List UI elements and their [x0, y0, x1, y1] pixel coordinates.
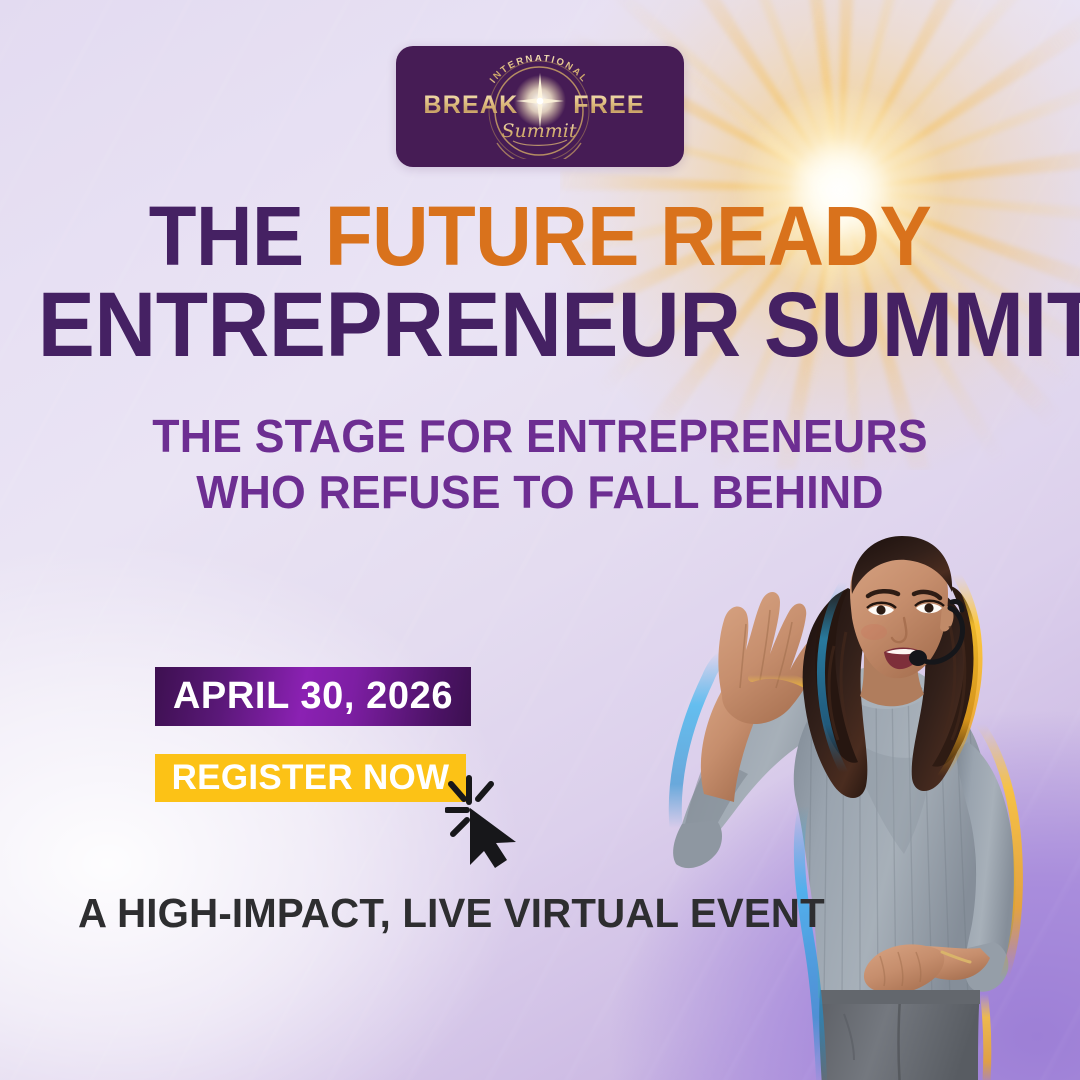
- headline-line-1: THE FUTURE READY: [38, 196, 1042, 277]
- headline-line-2: ENTREPRENEUR SUMMIT: [38, 281, 1042, 369]
- headline-future-ready: FUTURE READY: [325, 189, 931, 283]
- logo-word-break: BREAK: [424, 91, 519, 119]
- event-date-label: APRIL 30, 2026: [173, 675, 453, 718]
- logo-card: INTERNATIONAL BREAK FREE Summit: [396, 46, 684, 167]
- page-title: THE FUTURE READY ENTREPRENEUR SUMMIT: [38, 196, 1042, 369]
- break-free-summit-logo: INTERNATIONAL BREAK FREE Summit: [421, 55, 659, 159]
- subheadline-line-1: THE STAGE FOR ENTREPRENEURS: [16, 408, 1064, 464]
- logo-word-free: FREE: [573, 91, 644, 119]
- register-now-button[interactable]: REGISTER NOW: [155, 754, 466, 802]
- subheadline-line-2: WHO REFUSE TO FALL BEHIND: [16, 464, 1064, 520]
- register-now-label: REGISTER NOW: [172, 758, 450, 798]
- logo-script-summit: Summit: [502, 120, 577, 142]
- headline-the: THE: [149, 189, 325, 283]
- event-format-note: A HIGH-IMPACT, LIVE VIRTUAL EVENT: [78, 890, 825, 937]
- subheadline: THE STAGE FOR ENTREPRENEURS WHO REFUSE T…: [16, 408, 1064, 520]
- event-date-badge: APRIL 30, 2026: [155, 667, 471, 726]
- poster-canvas: INTERNATIONAL BREAK FREE Summit THE FUTU…: [0, 0, 1080, 1080]
